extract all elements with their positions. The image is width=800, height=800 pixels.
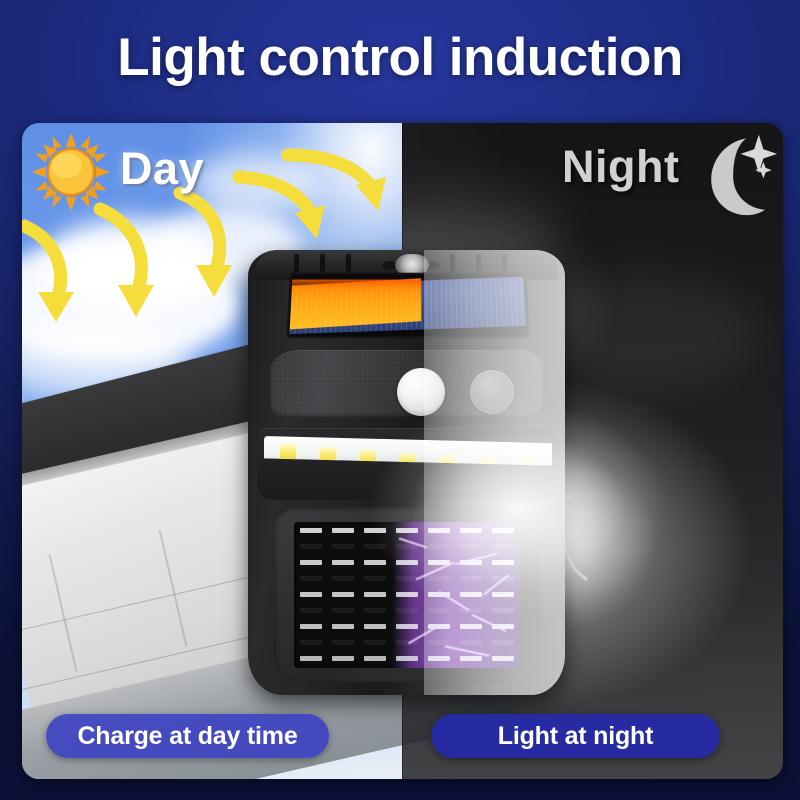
led-chip	[400, 454, 416, 474]
grille-column	[298, 522, 324, 668]
photocell-lens	[470, 370, 514, 414]
vent-slot	[294, 254, 299, 274]
mosquito-zapper-grille	[294, 522, 520, 668]
moon-icon	[689, 131, 781, 217]
led-chip	[480, 458, 496, 478]
led-housing	[258, 428, 558, 500]
promo-image-root: Light control induction	[0, 0, 800, 800]
vent-slot	[450, 254, 455, 274]
pill-light-at-night[interactable]: Light at night	[431, 714, 720, 758]
sensor-face-plate	[270, 350, 543, 418]
uv-zapper-glow	[392, 522, 520, 668]
solar-wall-light-device	[248, 250, 565, 695]
led-chip	[360, 451, 376, 471]
sun-icon	[32, 133, 110, 211]
product-photo-card: Day Night	[22, 123, 783, 779]
vent-slot	[346, 254, 351, 274]
solar-panel-highlight	[292, 280, 421, 289]
pill-charge-at-day-time[interactable]: Charge at day time	[46, 714, 329, 758]
led-light-strip	[264, 436, 552, 476]
led-chip	[520, 460, 536, 480]
led-chip	[440, 456, 456, 476]
vent-slot	[320, 254, 325, 274]
vent-slot	[476, 254, 481, 274]
grille-column	[330, 522, 356, 668]
night-label: Night	[562, 141, 679, 193]
grille-column	[362, 522, 388, 668]
day-label: Day	[120, 143, 204, 195]
led-chip	[280, 445, 296, 465]
page-title: Light control induction	[0, 30, 800, 86]
vent-slot	[502, 254, 507, 274]
charge-arrow-icon	[278, 143, 388, 239]
solar-panel	[286, 273, 529, 338]
zapper-bezel	[274, 506, 540, 682]
led-chip	[320, 448, 336, 468]
pir-sensor-lens	[397, 368, 445, 416]
